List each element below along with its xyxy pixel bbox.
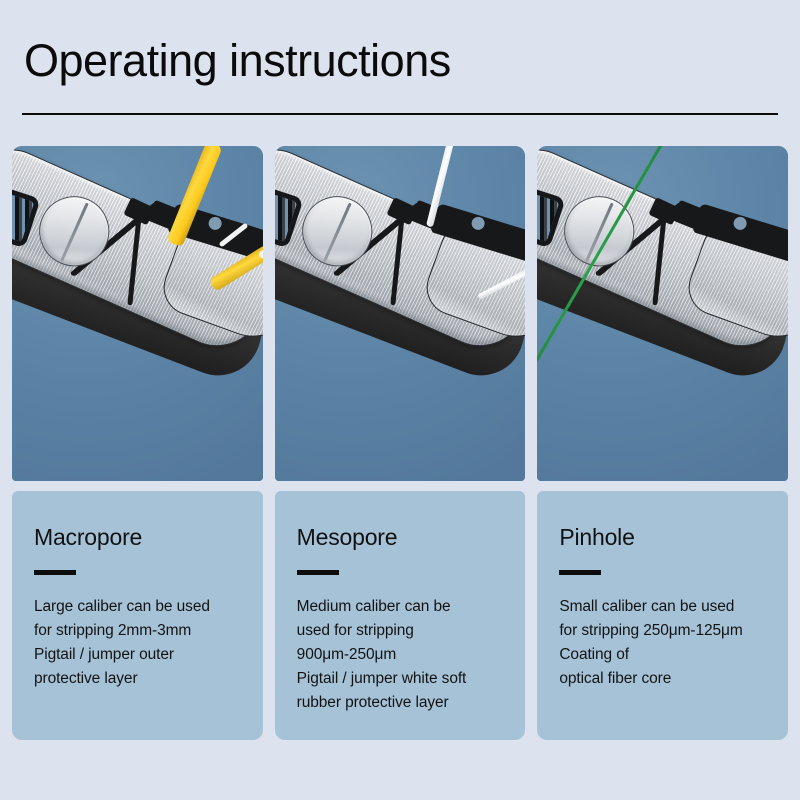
instruction-card: Mesopore Medium caliber can be used for … (275, 146, 526, 740)
instruction-card: Pinhole Small caliber can be used for st… (537, 146, 788, 740)
title-divider (22, 113, 778, 115)
description-line: optical fiber core (559, 667, 766, 691)
card-title: Pinhole (559, 525, 766, 550)
card-description: Small caliber can be used for stripping … (559, 595, 766, 691)
card-info-panel: Macropore Large caliber can be used for … (12, 491, 263, 740)
description-line: Large caliber can be used (34, 595, 241, 619)
instruction-card: Macropore Large caliber can be used for … (12, 146, 263, 740)
card-title: Macropore (34, 525, 241, 550)
description-line: Pigtail / jumper outer (34, 643, 241, 667)
product-photo-pinhole (537, 146, 788, 481)
description-line: used for stripping (297, 619, 504, 643)
description-line: Small caliber can be used (559, 595, 766, 619)
fiber-stripper-tool-icon (275, 146, 526, 481)
description-line: protective layer (34, 667, 241, 691)
fiber-stripper-tool-icon (12, 146, 263, 481)
description-line: Medium caliber can be (297, 595, 504, 619)
description-line: for stripping 250μm-125μm (559, 619, 766, 643)
instruction-card-grid: Macropore Large caliber can be used for … (12, 146, 788, 740)
card-title-divider (34, 570, 76, 575)
card-title-divider (559, 570, 601, 575)
infographic-page: Operating instructions (0, 0, 800, 800)
product-photo-mesopore (275, 146, 526, 481)
page-title: Operating instructions (24, 38, 451, 83)
description-line: Coating of (559, 643, 766, 667)
description-line: for stripping 2mm-3mm (34, 619, 241, 643)
card-info-panel: Mesopore Medium caliber can be used for … (275, 491, 526, 740)
product-photo-macropore (12, 146, 263, 481)
card-title-divider (297, 570, 339, 575)
description-line: 900μm-250μm (297, 643, 504, 667)
description-line: Pigtail / jumper white soft (297, 667, 504, 691)
card-description: Medium caliber can be used for stripping… (297, 595, 504, 715)
description-line: rubber protective layer (297, 691, 504, 715)
card-info-panel: Pinhole Small caliber can be used for st… (537, 491, 788, 740)
card-description: Large caliber can be used for stripping … (34, 595, 241, 691)
fiber-stripper-tool-icon (537, 146, 788, 481)
card-title: Mesopore (297, 525, 504, 550)
